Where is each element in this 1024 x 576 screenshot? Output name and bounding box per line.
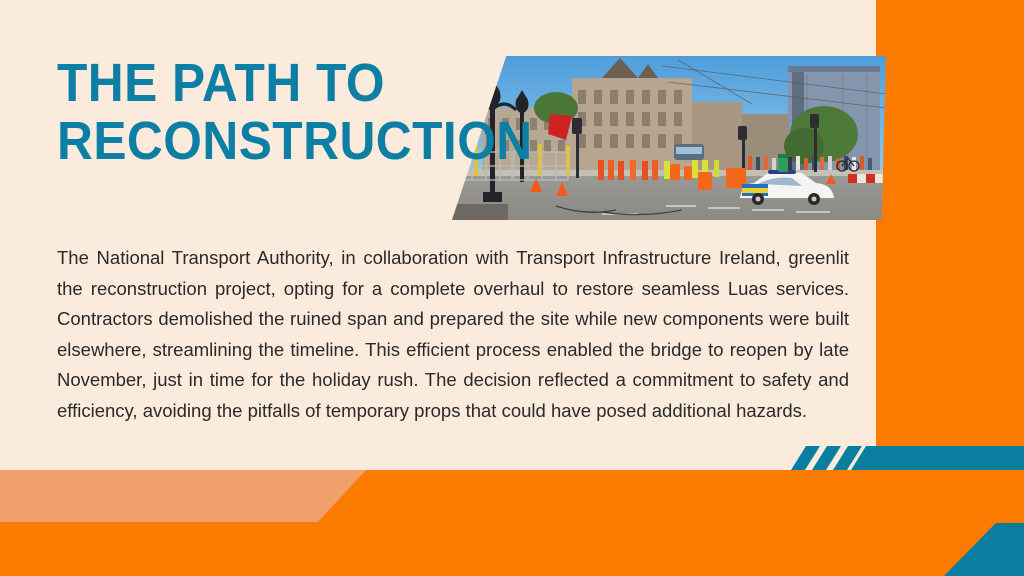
bottom-salmon-band [0, 522, 1024, 576]
decorative-dot-grid [566, 477, 756, 523]
diagonal-stripe-1 [791, 446, 820, 470]
title-line-2: RECONSTRUCTION [57, 112, 443, 170]
decorative-dot [616, 477, 623, 484]
decorative-dot [591, 499, 598, 506]
title-line-1: THE PATH TO [57, 54, 443, 112]
decorative-dot [691, 499, 698, 506]
decorative-dot [566, 477, 573, 484]
decorative-dot [716, 477, 723, 484]
decorative-dot [616, 499, 623, 506]
decorative-dot [691, 477, 698, 484]
decorative-dot [566, 499, 573, 506]
slide-canvas: THE PATH TO RECONSTRUCTION The National … [0, 0, 1024, 576]
decorative-dot [641, 499, 648, 506]
diagonal-stripe-2 [812, 446, 841, 470]
decorative-dot [591, 477, 598, 484]
decorative-dot [641, 477, 648, 484]
right-orange-panel [876, 0, 1024, 576]
decorative-dot [666, 477, 673, 484]
salmon-band-overlay [0, 470, 366, 522]
decorative-dot [666, 499, 673, 506]
diagonal-stripe-3 [833, 446, 862, 470]
decorative-dot [716, 499, 723, 506]
body-paragraph: The National Transport Authority, in col… [57, 243, 849, 427]
page-title: THE PATH TO RECONSTRUCTION [57, 54, 443, 170]
